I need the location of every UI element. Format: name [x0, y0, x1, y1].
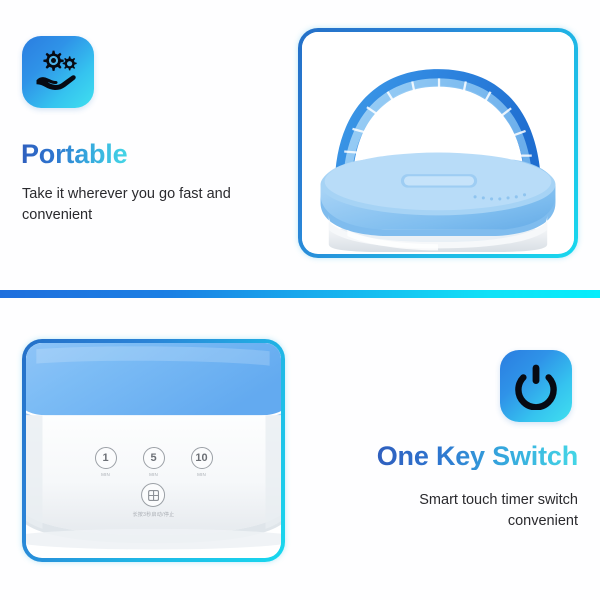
product-feature-infographic: Portable Take it wherever you go fast an…	[0, 0, 600, 600]
timer-button-10-value: 10	[191, 447, 213, 469]
feature-subcopy-one-key-switch: Smart touch timer switch convenient	[363, 490, 578, 532]
photo-frame-control-panel: 1 MIN 5 MIN 10 MIN	[22, 339, 285, 562]
timer-button-1-caption: MIN	[101, 472, 110, 477]
photo-frame-handle	[298, 28, 578, 258]
power-button-icon	[500, 350, 572, 422]
timer-button-1[interactable]: 1 MIN	[89, 447, 123, 477]
mode-button[interactable]: 长按3秒启动/停止	[133, 483, 175, 518]
timer-button-5-caption: MIN	[149, 472, 158, 477]
mode-grid-icon	[142, 483, 166, 507]
mode-button-caption: 长按3秒启动/停止	[133, 511, 175, 518]
timer-button-10[interactable]: 10 MIN	[185, 447, 219, 477]
hand-holding-gears-icon	[22, 36, 94, 108]
timer-button-5-value: 5	[143, 447, 165, 469]
timer-button-10-caption: MIN	[197, 472, 206, 477]
feature-headline-portable: Portable	[21, 140, 127, 168]
gradient-divider	[0, 290, 600, 298]
feature-subcopy-portable: Take it wherever you go fast and conveni…	[22, 184, 254, 226]
feature-headline-one-key-switch: One Key Switch	[377, 442, 578, 470]
timer-button-1-value: 1	[95, 447, 117, 469]
portable-washer-handle-photo	[302, 32, 574, 254]
control-panel-photo: 1 MIN 5 MIN 10 MIN	[26, 343, 281, 558]
timer-button-5[interactable]: 5 MIN	[137, 447, 171, 477]
timer-button-row: 1 MIN 5 MIN 10 MIN	[89, 447, 219, 477]
